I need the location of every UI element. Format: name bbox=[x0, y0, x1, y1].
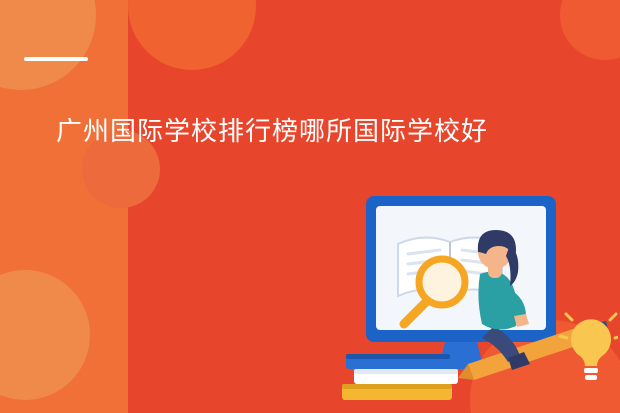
banner-title: 广州国际学校排行榜哪所国际学校好 bbox=[56, 112, 596, 150]
illustration bbox=[318, 178, 618, 403]
title-underline-rule bbox=[24, 57, 88, 61]
stack-of-books bbox=[342, 354, 458, 400]
banner-canvas: 广州国际学校排行榜哪所国际学校好 bbox=[0, 0, 620, 413]
